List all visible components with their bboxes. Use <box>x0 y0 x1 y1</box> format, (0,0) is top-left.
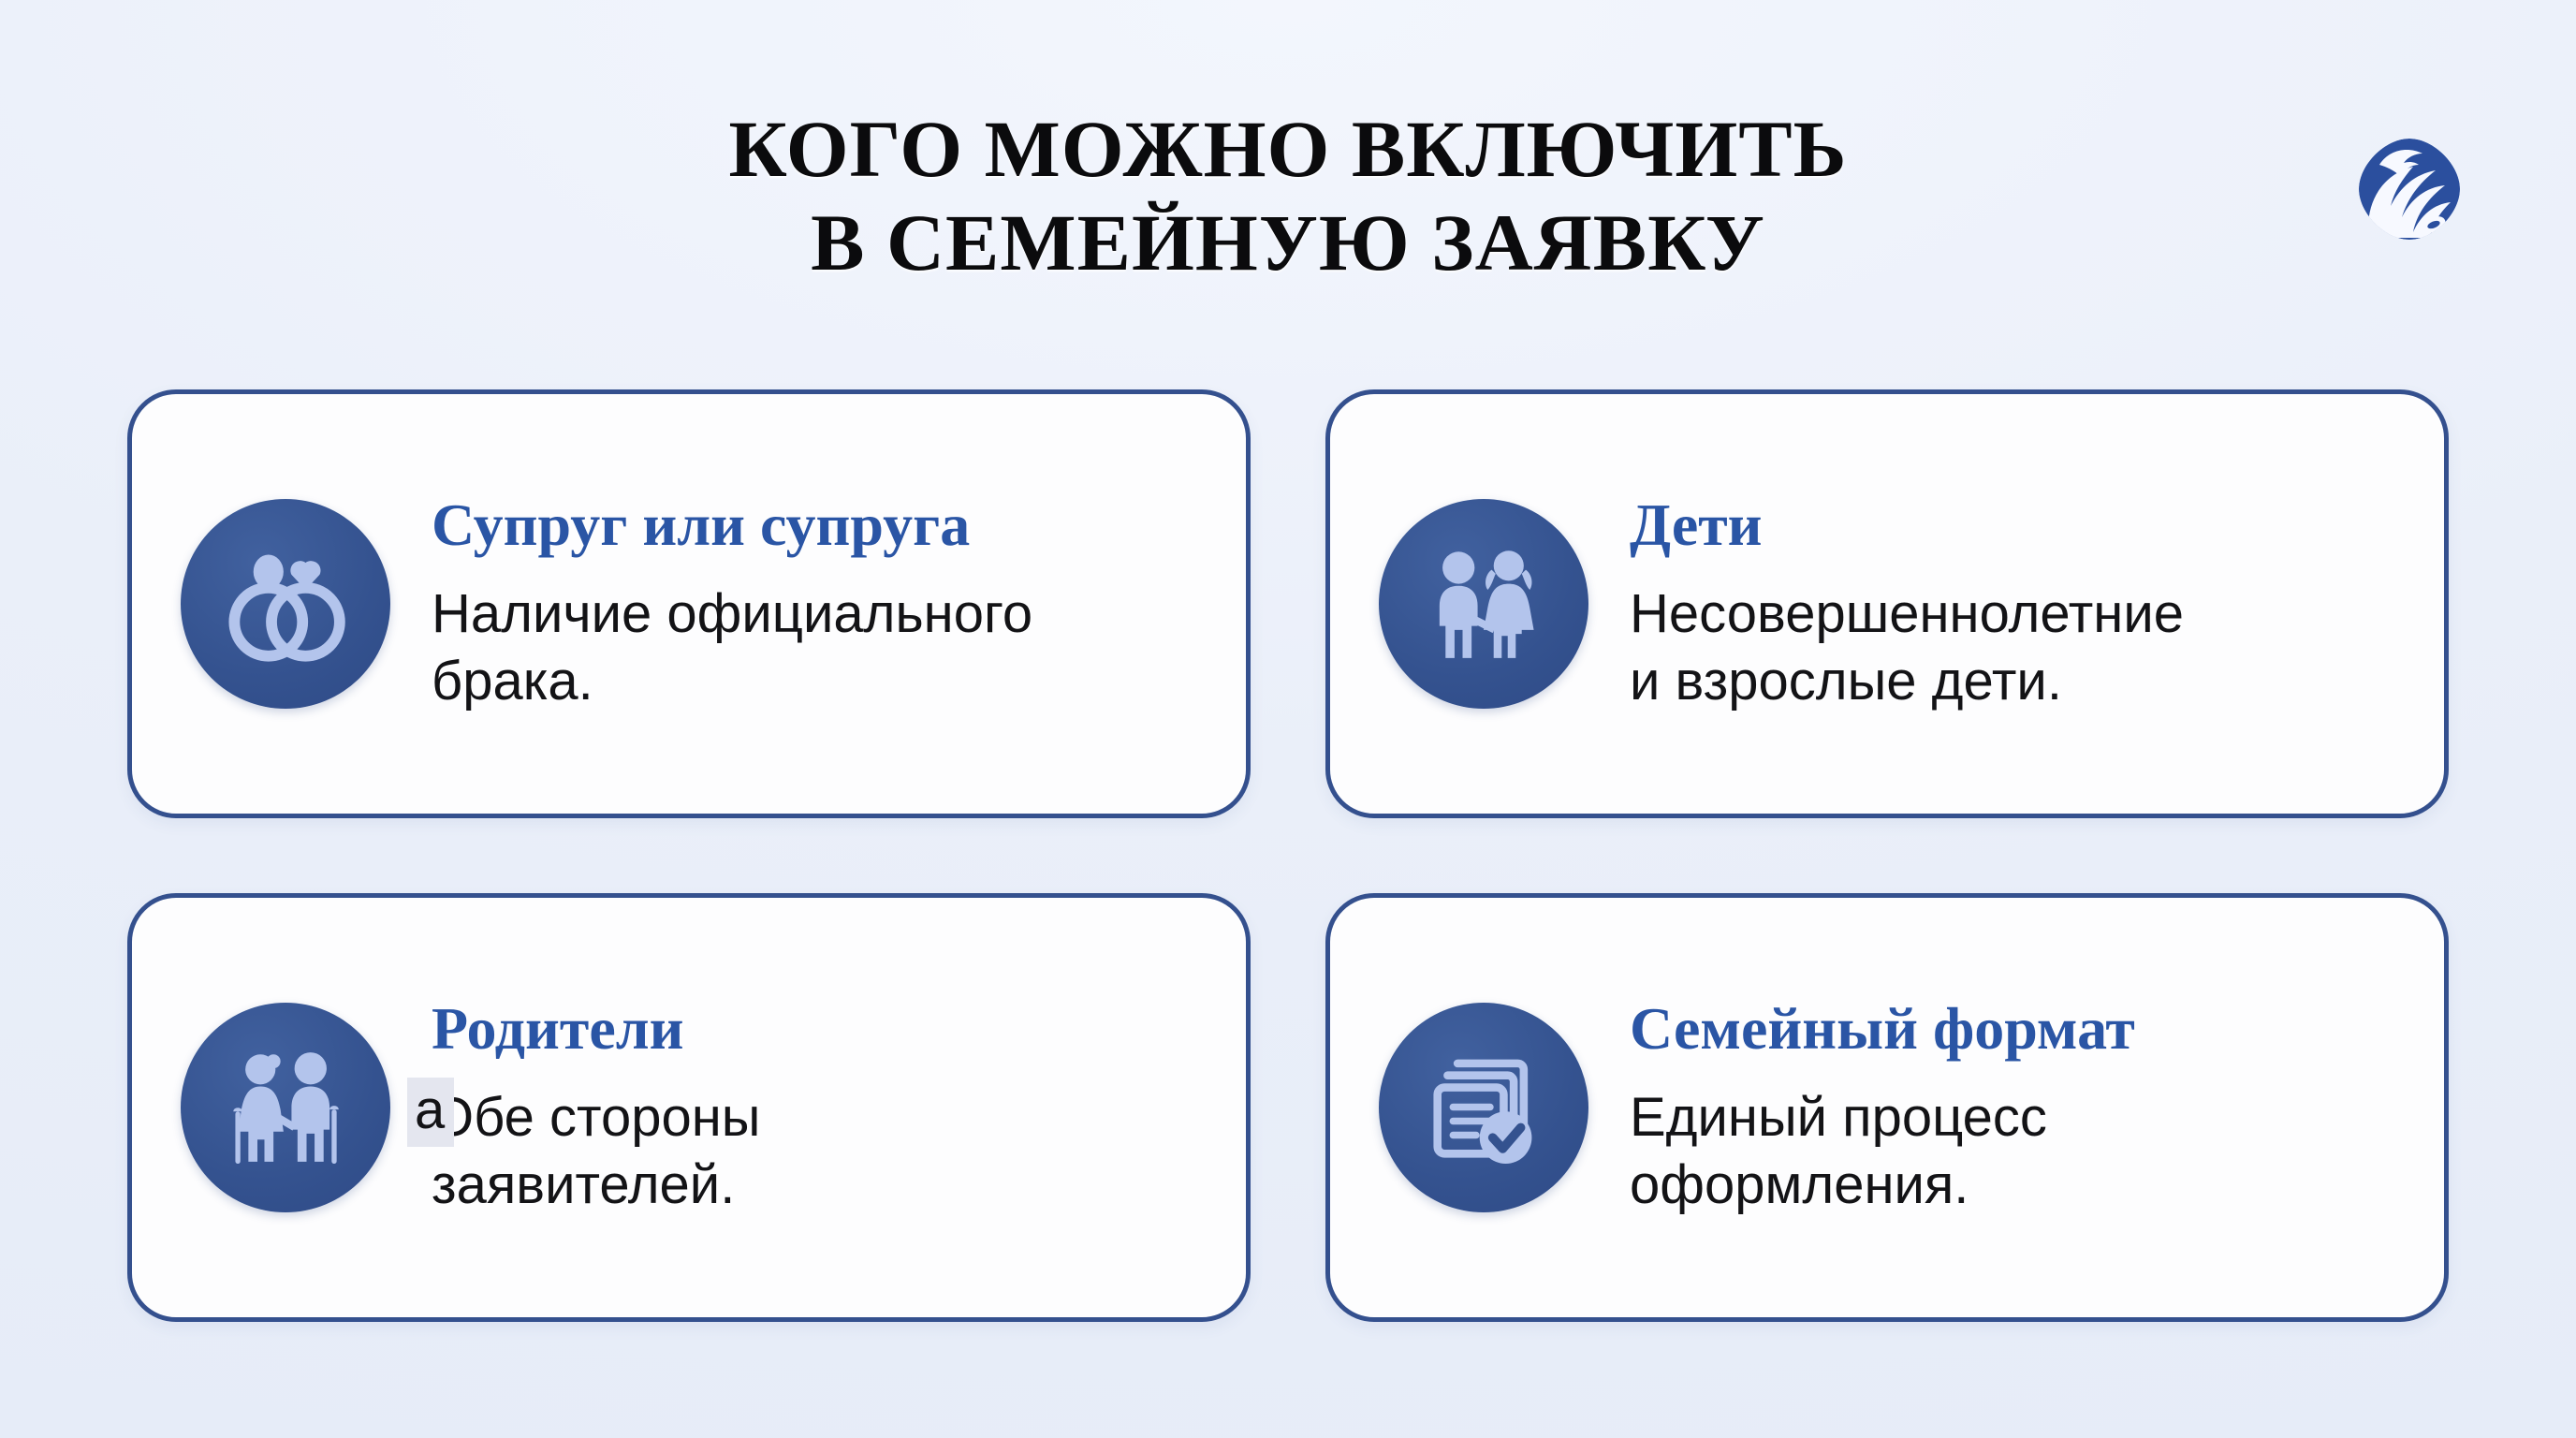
card-parents-text: Родители Обе стороны заявителей. а <box>432 997 1203 1219</box>
card-family-format-body: Единый процесс оформления. <box>1630 1084 2401 1219</box>
page-title-line-1: КОГО МОЖНО ВКЛЮЧИТЬ <box>0 103 2576 197</box>
card-parents-title: Родители <box>432 997 1203 1060</box>
card-spouse-body: Наличие официального брака. <box>432 580 1203 715</box>
elderly-parents-icon <box>181 1003 390 1212</box>
card-spouse[interactable]: Супруг или супруга Наличие официального … <box>127 389 1251 818</box>
children-icon <box>1379 499 1588 709</box>
card-parents-body: Обе стороны заявителей. <box>432 1084 1203 1219</box>
page-header: КОГО МОЖНО ВКЛЮЧИТЬ В СЕМЕЙНУЮ ЗАЯВКУ <box>0 103 2576 290</box>
card-spouse-text: Супруг или супруга Наличие официального … <box>432 493 1203 715</box>
card-family-format-text: Семейный формат Единый процесс оформлени… <box>1630 997 2401 1219</box>
globe-dolphin-logo <box>2353 133 2466 245</box>
page-title-line-2: В СЕМЕЙНУЮ ЗАЯВКУ <box>0 197 2576 290</box>
card-children[interactable]: Дети Несовершеннолетние и взрослые дети. <box>1325 389 2449 818</box>
card-children-title: Дети <box>1630 493 2401 556</box>
documents-check-icon <box>1379 1003 1588 1212</box>
card-children-text: Дети Несовершеннолетние и взрослые дети. <box>1630 493 2401 715</box>
card-grid: Супруг или супруга Наличие официального … <box>127 389 2449 1326</box>
infographic-slide: КОГО МОЖНО ВКЛЮЧИТЬ В СЕМЕЙНУЮ ЗАЯВКУ <box>0 0 2576 1438</box>
card-family-format-title: Семейный формат <box>1630 997 2401 1060</box>
card-children-body: Несовершеннолетние и взрослые дети. <box>1630 580 2401 715</box>
card-spouse-title: Супруг или супруга <box>432 493 1203 556</box>
wedding-rings-icon <box>181 499 390 709</box>
card-family-format[interactable]: Семейный формат Единый процесс оформлени… <box>1325 893 2449 1322</box>
stray-glyph-artifact: а <box>407 1078 454 1147</box>
card-parents[interactable]: Родители Обе стороны заявителей. а <box>127 893 1251 1322</box>
